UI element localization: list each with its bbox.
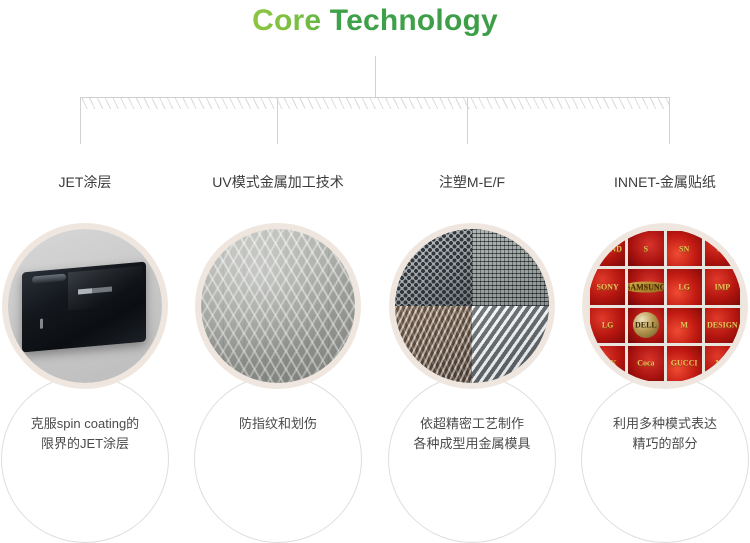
technology-column-injection-mold[interactable]: 注塑M-E/F 依超精密工艺制作 各种成型用金属模具 (378, 0, 566, 530)
caption-line-3a: 依超精密工艺制作 (394, 414, 550, 434)
sticker-mark: BRAND (593, 244, 621, 253)
sticker-tile: S (628, 231, 663, 266)
caption-circle-2: 防指纹和划伤 (194, 375, 362, 543)
sticker-tile: SO (705, 231, 740, 266)
sticker-mark: SONY (597, 282, 619, 291)
mold-quadrant-weave (395, 306, 472, 383)
sticker-mark: M (680, 321, 688, 330)
caption-circle-3: 依超精密工艺制作 各种成型用金属模具 (388, 375, 556, 543)
sticker-tile: SONY (590, 269, 625, 304)
device-slot (32, 274, 66, 284)
device-cover-shape (22, 262, 146, 353)
core-technology-infographic: Core Technology JET涂层 克服spin coating的 限界… (0, 0, 750, 530)
technology-column-jet-coating[interactable]: JET涂层 克服spin coating的 限界的JET涂层 (0, 0, 179, 530)
innet-metal-sticker-image: BRAND S SN SO SONY SAMSUNG LG IMP LG DEL… (588, 229, 742, 383)
column-label-1: JET涂层 (0, 172, 179, 192)
caption-circle-1: 克服spin coating的 限界的JET涂层 (1, 375, 169, 543)
sticker-tile: IMP (705, 269, 740, 304)
sticker-tile: DESIGN (705, 308, 740, 343)
column-label-3: 注塑M-E/F (378, 172, 566, 192)
jet-coating-image (8, 229, 162, 383)
caption-line-1a: 克服spin coating的 (7, 414, 163, 434)
injection-mold-texture-photo[interactable] (389, 223, 555, 389)
sticker-tile: GUCCI (667, 346, 702, 381)
uv-pattern-sheen (201, 229, 355, 383)
injection-mold-texture-image (395, 229, 549, 383)
caption-line-4b: 精巧的部分 (587, 434, 743, 454)
caption-text-4: 利用多种模式表达 精巧的部分 (587, 414, 743, 454)
caption-circle-4: 利用多种模式表达 精巧的部分 (581, 375, 749, 543)
technology-column-uv-metal[interactable]: UV模式金属加工技术 防指纹和划伤 (184, 0, 372, 530)
sticker-tile: Coca (628, 346, 663, 381)
caption-line-1b: 限界的JET涂层 (7, 434, 163, 454)
sticker-tile: LG (667, 269, 702, 304)
mold-quadrant-brushed (472, 306, 549, 383)
uv-metal-pattern-image (201, 229, 355, 383)
sticker-tile: SAMSUNG (628, 269, 663, 304)
mold-quadrant-mesh (472, 229, 549, 306)
column-label-4: INNET-金属贴纸 (571, 172, 750, 192)
device-indicator-dot (40, 319, 43, 329)
sticker-mark: DESIGN (707, 321, 738, 330)
sticker-tile: BRAND (590, 231, 625, 266)
caption-line-4a: 利用多种模式表达 (587, 414, 743, 434)
caption-line-3b: 各种成型用金属模具 (394, 434, 550, 454)
sticker-tile: MO (705, 346, 740, 381)
sticker-tile: NOK (590, 346, 625, 381)
innet-metal-sticker-photo[interactable]: BRAND S SN SO SONY SAMSUNG LG IMP LG DEL… (582, 223, 748, 389)
sticker-mark: LG (678, 282, 690, 291)
jet-coating-photo[interactable] (2, 223, 168, 389)
mold-quadrant-hexdots (395, 229, 472, 306)
sticker-mark: Coca (637, 359, 654, 368)
sticker-mark: NOK (599, 359, 617, 368)
sticker-mark: SO (717, 244, 728, 253)
sticker-mark: SAMSUNG (628, 281, 663, 292)
technology-column-innet-sticker[interactable]: INNET-金属贴纸 利用多种模式表达 精巧的部分 BRAND S SN SO … (571, 0, 750, 530)
uv-metal-pattern-photo[interactable] (195, 223, 361, 389)
sticker-mark: S (644, 244, 648, 253)
caption-line-2a: 防指纹和划伤 (200, 414, 356, 434)
caption-text-2: 防指纹和划伤 (200, 414, 356, 434)
sticker-mark: LG (602, 321, 614, 330)
sticker-mark: MO (715, 359, 729, 368)
caption-text-1: 克服spin coating的 限界的JET涂层 (7, 414, 163, 454)
sticker-tile-grid: BRAND S SN SO SONY SAMSUNG LG IMP LG DEL… (588, 229, 742, 383)
sticker-mark: SN (679, 244, 689, 253)
sticker-tile: SN (667, 231, 702, 266)
sticker-mark: IMP (715, 282, 731, 291)
caption-text-3: 依超精密工艺制作 各种成型用金属模具 (394, 414, 550, 454)
sticker-mark: GUCCI (671, 359, 698, 368)
sticker-mark: DELL (635, 321, 657, 330)
sticker-tile: LG (590, 308, 625, 343)
column-label-2: UV模式金属加工技术 (184, 172, 372, 192)
sticker-tile: DELL (628, 308, 663, 343)
sticker-tile: M (667, 308, 702, 343)
